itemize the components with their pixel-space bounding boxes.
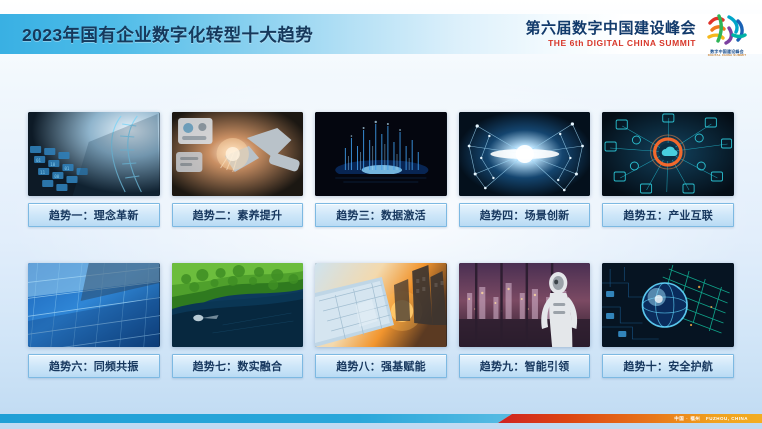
glowing-network-burst-image (459, 112, 591, 196)
footer-location-en: FUZHOU, CHINA (706, 416, 748, 421)
blue-keyboard-dna-helix-image: 011001 1100 (28, 112, 160, 196)
digital-china-summit-logo-icon: 数字中国建设峰会 DIGITAL CHINA SUMMIT (704, 9, 750, 59)
blue-data-stream-visualization-image (315, 112, 447, 196)
page-title: 2023年国有企业数字化转型十大趋势 (22, 22, 313, 47)
trend-card[interactable]: 趋势八：强基赋能 (315, 263, 447, 378)
trend-label: 趋势二：素养提升 (172, 203, 304, 227)
summit-name-en: THE 6th DIGITAL CHINA SUMMIT (548, 39, 696, 48)
trend-label-text: 趋势五：产业互联 (623, 207, 713, 223)
trend-label: 趋势三：数据激活 (315, 203, 447, 227)
trend-card[interactable]: 趋势三：数据激活 (315, 112, 447, 227)
trend-card[interactable]: 趋势二：素养提升 (172, 112, 304, 227)
trend-label-text: 趋势八：强基赋能 (336, 358, 426, 374)
svg-text:00: 00 (54, 174, 59, 179)
trend-label: 趋势五：产业互联 (602, 203, 734, 227)
trend-label-text: 趋势二：素养提升 (193, 207, 283, 223)
industrial-iot-network-hub-image (602, 112, 734, 196)
trend-card[interactable]: 趋势九：智能引领 (459, 263, 591, 378)
slide-header: 2023年国有企业数字化转型十大趋势 第六届数字中国建设峰会 THE 6th D… (0, 14, 762, 54)
svg-text:01: 01 (36, 158, 41, 163)
trend-card[interactable]: 趋势六：同频共振 (28, 263, 160, 378)
trend-card[interactable]: 趋势七：数实融合 (172, 263, 304, 378)
trend-label: 趋势一：理念革新 (28, 203, 160, 227)
trend-label-text: 趋势三：数据激活 (336, 207, 426, 223)
humanoid-robot-city-window-image (459, 263, 591, 347)
trend-label: 趋势四：场景创新 (459, 203, 591, 227)
slide-root: 2023年国有企业数字化转型十大趋势 第六届数字中国建设峰会 THE 6th D… (0, 0, 762, 429)
svg-text:11: 11 (40, 170, 45, 175)
trend-label: 趋势七：数实融合 (172, 354, 304, 378)
trend-label-text: 趋势十：安全护航 (623, 358, 713, 374)
trend-card-grid: 011001 1100 趋势一：理念革新 (28, 112, 734, 378)
trend-label-text: 趋势一：理念革新 (49, 207, 139, 223)
solar-panel-array-image (28, 263, 160, 347)
trend-label-text: 趋势四：场景创新 (480, 207, 570, 223)
summit-name-cn: 第六届数字中国建设峰会 (525, 21, 696, 36)
logo-caption-en: DIGITAL CHINA SUMMIT (708, 54, 747, 58)
trend-label-text: 趋势九：智能引领 (480, 358, 570, 374)
footer-location-text: 中国·福州 FUZHOU, CHINA (674, 415, 748, 422)
svg-text:10: 10 (50, 162, 55, 167)
summit-branding: 第六届数字中国建设峰会 THE 6th DIGITAL CHINA SUMMIT (525, 8, 750, 60)
solar-panel-city-sunset-image (315, 263, 447, 347)
trend-card[interactable]: 011001 1100 趋势一：理念革新 (28, 112, 160, 227)
trend-label: 趋势九：智能引领 (459, 354, 591, 378)
trend-card[interactable]: 趋势五：产业互联 (602, 112, 734, 227)
trend-card[interactable]: 趋势十：安全护航 (602, 263, 734, 378)
footer-bar-blue (0, 414, 512, 423)
trend-card[interactable]: 趋势四：场景创新 (459, 112, 591, 227)
svg-text:01: 01 (64, 166, 69, 171)
summit-wordmark: 第六届数字中国建设峰会 THE 6th DIGITAL CHINA SUMMIT (525, 21, 696, 48)
robotic-hand-control-panel-image (172, 112, 304, 196)
green-forest-river-aerial-image (172, 263, 304, 347)
logo-caption: 数字中国建设峰会 DIGITAL CHINA SUMMIT (708, 49, 747, 58)
footer-location-cn: 中国 (674, 416, 684, 421)
trend-label: 趋势六：同频共振 (28, 354, 160, 378)
slide-footer: 中国·福州 FUZHOU, CHINA (0, 405, 762, 429)
blue-globe-circuit-board-image (602, 263, 734, 347)
footer-location-city: 福州 (690, 416, 700, 421)
trend-label: 趋势十：安全护航 (602, 354, 734, 378)
trend-label: 趋势八：强基赋能 (315, 354, 447, 378)
trend-label-text: 趋势七：数实融合 (193, 358, 283, 374)
trend-label-text: 趋势六：同频共振 (49, 358, 139, 374)
